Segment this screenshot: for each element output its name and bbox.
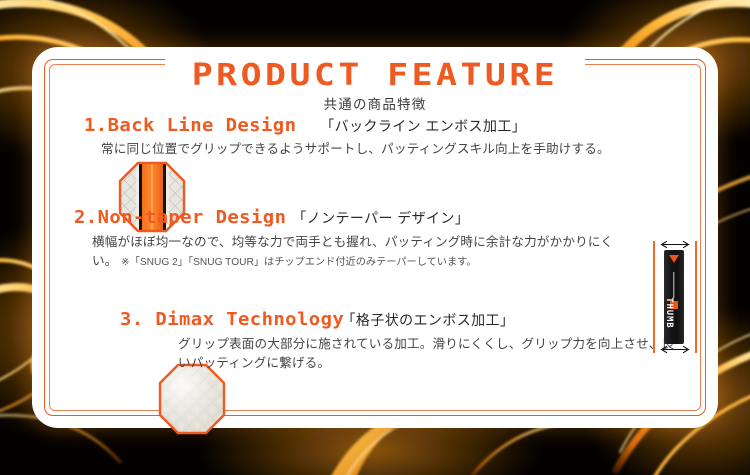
title-block: PRODUCT FEATURE 共通の商品特徴 bbox=[32, 59, 718, 114]
feature-2-heading-jp: 「ノンテーパー デザイン」 bbox=[292, 208, 469, 228]
feature-3-body: グリップ表面の大部分に施されている加工。滑りにくくし、グリップ力を向上させ、良い… bbox=[178, 335, 680, 373]
grip-center-line bbox=[673, 272, 674, 298]
feature-3-heading-jp: 「格子状のエンボス加工」 bbox=[342, 310, 515, 330]
feature-2-body: 横幅がほぼ均一なので、均等な力で両手とも握れ、パッティング時に余計な力がかかりに… bbox=[92, 233, 634, 272]
feature-2-heading-en: 2.Non-taper Design bbox=[74, 207, 286, 228]
grip-brand-label: THUMB bbox=[664, 297, 674, 328]
page-title: PRODUCT FEATURE bbox=[192, 59, 558, 93]
grip-triangle-mark-icon bbox=[669, 255, 679, 263]
grip-guide-line-right bbox=[695, 241, 697, 353]
grip-guide-line-left bbox=[653, 241, 655, 353]
feature-1-body: 常に同じ位置でグリップできるようサポートし、パッティングスキル向上を手助けする。 bbox=[101, 140, 684, 159]
feature-1-heading: 1.Back Line Design 「バックライン エンボス加工」 bbox=[84, 115, 684, 136]
feature-3-heading-en: 3. Dimax Technology bbox=[120, 309, 344, 330]
feature-section-3: 3. Dimax Technology 「格子状のエンボス加工」 グリップ表面の… bbox=[120, 309, 680, 373]
feature-card: PRODUCT FEATURE 共通の商品特徴 bbox=[32, 47, 718, 428]
width-arrow-bottom-icon bbox=[660, 345, 690, 354]
grip-taper-diagram-icon: THUMB bbox=[652, 241, 698, 353]
feature-section-1: 1.Back Line Design 「バックライン エンボス加工」 常に同じ位… bbox=[84, 115, 684, 159]
feature-section-2: 2.Non-taper Design 「ノンテーパー デザイン」 横幅がほぼ均一… bbox=[74, 207, 634, 272]
width-arrow-top-icon bbox=[660, 240, 690, 249]
feature-1-heading-jp: 「バックライン エンボス加工」 bbox=[320, 116, 526, 136]
page-subtitle: 共通の商品特徴 bbox=[32, 96, 718, 114]
feature-2-heading: 2.Non-taper Design 「ノンテーパー デザイン」 bbox=[74, 207, 634, 228]
feature-2-note: ※「SNUG 2」「SNUG TOUR」はチップエンド付近のみテーパーしています… bbox=[121, 257, 476, 268]
grip-body-graphic: THUMB bbox=[664, 250, 684, 344]
feature-3-heading: 3. Dimax Technology 「格子状のエンボス加工」 bbox=[120, 309, 680, 330]
grip-cross-section-dimax-icon bbox=[158, 363, 226, 440]
feature-1-heading-en: 1.Back Line Design bbox=[84, 115, 296, 136]
